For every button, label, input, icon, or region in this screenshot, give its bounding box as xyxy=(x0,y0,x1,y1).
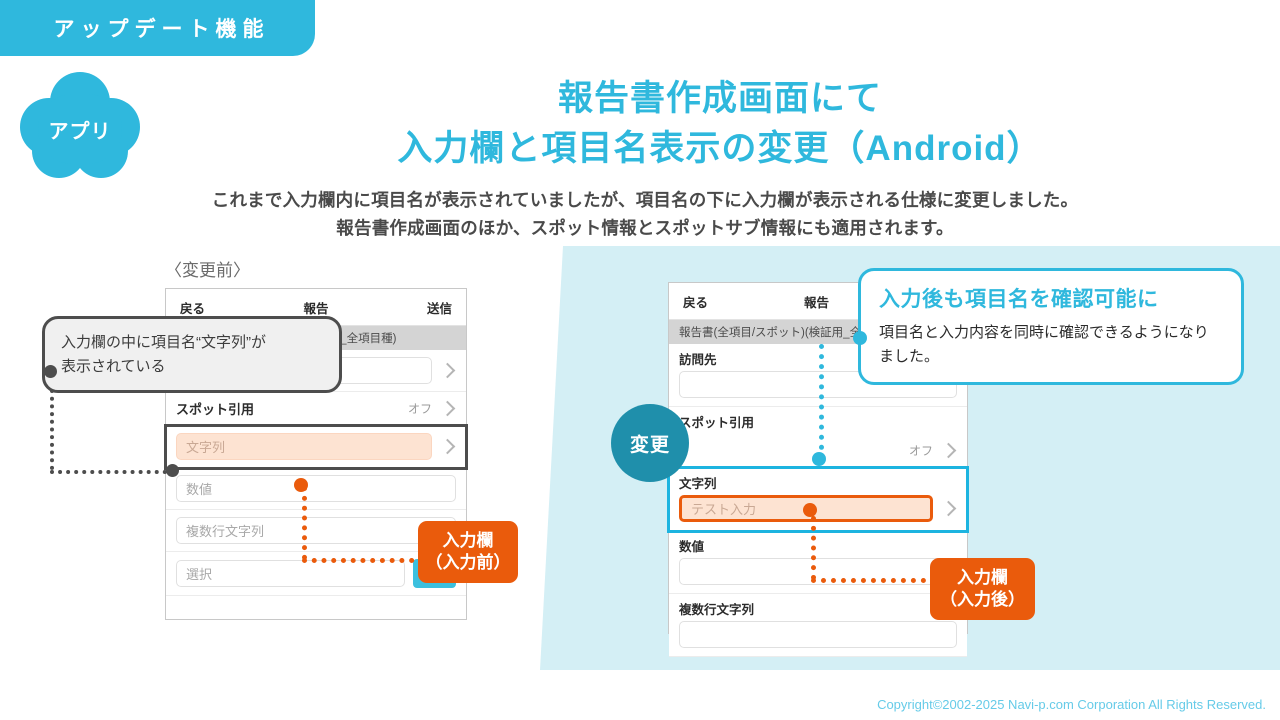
multiline-input[interactable]: 複数行文字列 xyxy=(176,517,456,544)
callout-after: 入力後も項目名を確認可能に 項目名と入力内容を同時に確認できるようになりました。 xyxy=(858,268,1244,385)
connector-line-before-horizontal xyxy=(50,470,175,474)
nav-back-button[interactable]: 戻る xyxy=(683,292,708,311)
input-value: テスト入力 xyxy=(691,499,756,518)
row-label: 文字列 xyxy=(679,473,957,492)
form-row-spot-quote[interactable]: スポット引用 オフ xyxy=(166,392,466,426)
input-placeholder: 数値 xyxy=(186,479,212,498)
row-label: 複数行文字列 xyxy=(679,599,957,618)
form-row-number[interactable]: 数値 xyxy=(669,531,967,594)
form-row-multiline[interactable]: 複数行文字列 xyxy=(669,594,967,657)
row-value: オフ xyxy=(408,400,432,417)
page-subtitle-line-1: これまで入力欄内に項目名が表示されていましたが、項目名の下に入力欄が表示される仕… xyxy=(100,186,1190,214)
orange-label-before-line-2: （入力前） xyxy=(426,552,511,574)
connector-line-orange-after-horizontal xyxy=(811,578,936,583)
multiline-input[interactable] xyxy=(679,621,957,648)
select-input[interactable]: 選択 xyxy=(176,560,405,587)
nav-title: 報告 xyxy=(303,298,328,317)
nav-back-button[interactable]: 戻る xyxy=(180,298,205,317)
connector-line-after-vertical xyxy=(819,344,824,460)
slide-root: アップデート機能 アプリ 報告書作成画面にて 入力欄と項目名表示の変更（Andr… xyxy=(0,0,1280,720)
header-tab-label: アップデート機能 xyxy=(46,13,270,43)
input-placeholder: 複数行文字列 xyxy=(186,521,264,540)
chevron-right-icon xyxy=(941,443,957,459)
orange-label-before: 入力欄 （入力前） xyxy=(418,521,518,583)
input-placeholder: 文字列 xyxy=(186,437,225,456)
page-title-line-1: 報告書作成画面にて xyxy=(180,74,1260,124)
connector-line-orange-before-vertical xyxy=(302,486,307,560)
input-placeholder: 選択 xyxy=(186,564,212,583)
connector-dot-orange-before xyxy=(294,478,308,492)
row-value: オフ xyxy=(909,442,933,459)
form-row-string-highlighted[interactable]: 文字列 xyxy=(166,426,466,468)
text-input-string[interactable]: 文字列 xyxy=(176,433,432,460)
connector-dot-row-after xyxy=(812,452,826,466)
form-row-string-highlighted[interactable]: 文字列 テスト入力 xyxy=(669,468,967,531)
orange-label-before-line-1: 入力欄 xyxy=(443,530,494,552)
page-subtitle-line-2: 報告書作成画面のほか、スポット情報とスポットサブ情報にも適用されます。 xyxy=(100,214,1190,242)
header-tab: アップデート機能 xyxy=(0,0,315,56)
callout-after-title: 入力後も項目名を確認可能に xyxy=(879,283,1223,313)
before-caption: 〈変更前〉 xyxy=(165,256,250,281)
connector-line-orange-before-horizontal xyxy=(302,558,424,563)
page-title-line-2: 入力欄と項目名表示の変更（Android） xyxy=(180,124,1260,174)
callout-before: 入力欄の中に項目名“文字列”が 表示されている xyxy=(42,316,342,393)
chevron-right-icon xyxy=(440,439,456,455)
callout-after-body: 項目名と入力内容を同時に確認できるようになりました。 xyxy=(879,321,1223,368)
chevron-right-icon xyxy=(440,363,456,379)
orange-label-after: 入力欄 （入力後） xyxy=(930,558,1035,620)
callout-before-line-1: 入力欄の中に項目名“文字列”が xyxy=(61,331,323,355)
row-label: スポット引用 xyxy=(679,412,957,431)
connector-dot-row xyxy=(166,464,179,477)
orange-label-after-line-2: （入力後） xyxy=(940,589,1025,611)
connector-dot-callout xyxy=(44,365,57,378)
callout-before-line-2: 表示されている xyxy=(61,355,323,379)
number-input[interactable]: 数値 xyxy=(176,475,456,502)
connector-line-orange-after-vertical xyxy=(811,516,816,580)
row-label: スポット引用 xyxy=(176,399,254,418)
app-category-label: アプリ xyxy=(20,72,140,182)
chevron-right-icon xyxy=(440,401,456,417)
nav-send-button[interactable]: 送信 xyxy=(427,298,452,317)
change-badge: 変更 xyxy=(611,404,689,482)
connector-dot-orange-after xyxy=(803,503,817,517)
orange-label-after-line-1: 入力欄 xyxy=(957,567,1008,589)
nav-title: 報告 xyxy=(804,292,829,311)
chevron-right-icon xyxy=(941,501,957,517)
page-subtitle: これまで入力欄内に項目名が表示されていましたが、項目名の下に入力欄が表示される仕… xyxy=(100,186,1190,243)
page-title: 報告書作成画面にて 入力欄と項目名表示の変更（Android） xyxy=(180,74,1260,173)
connector-dot-callout-after xyxy=(853,331,867,345)
app-category-badge: アプリ xyxy=(20,72,140,182)
row-label: 数値 xyxy=(679,536,957,555)
footer-copyright: Copyright©2002-2025 Navi-p.com Corporati… xyxy=(877,697,1266,712)
form-row-number[interactable]: 数値 xyxy=(166,468,466,510)
